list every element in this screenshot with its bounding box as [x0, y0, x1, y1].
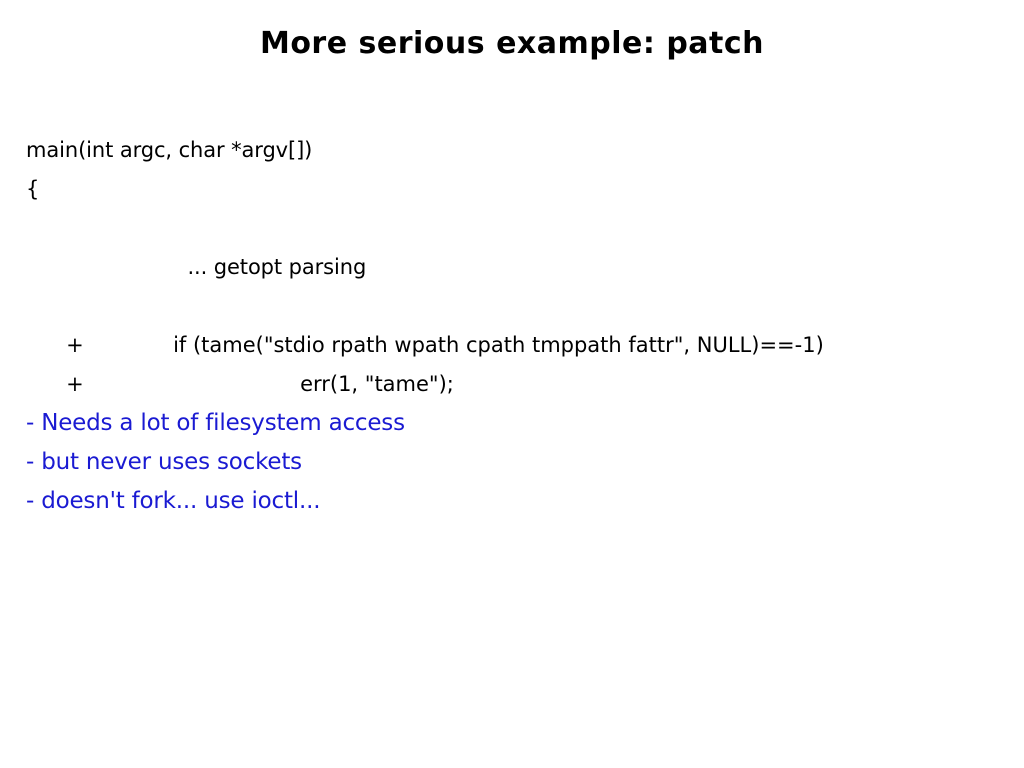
- code-line-main-signature: main(int argc, char *argv[]): [26, 131, 1006, 170]
- note-line-filesystem-access: - Needs a lot of filesystem access: [26, 404, 926, 443]
- code-line-open-brace: {: [26, 170, 1006, 209]
- code-line-err-call-text: err(1, "tame");: [300, 372, 454, 396]
- page-title: More serious example: patch: [0, 26, 1024, 61]
- note-line-no-fork-ioctl: - doesn't fork... use ioctl...: [26, 482, 926, 521]
- code-line-tame-if: +if (tame("stdio rpath wpath cpath tmppa…: [26, 287, 1006, 326]
- code-line-getopt: ... getopt parsing: [26, 209, 1006, 248]
- slide: More serious example: patch main(int arg…: [0, 0, 1024, 768]
- code-block: main(int argc, char *argv[]) { ... getop…: [26, 131, 1006, 365]
- diff-added-marker: +: [66, 365, 173, 404]
- note-line-no-sockets: - but never uses sockets: [26, 443, 926, 482]
- diff-added-marker: +: [66, 326, 173, 365]
- code-line-getopt-text: ... getopt parsing: [187, 255, 366, 279]
- code-line-tame-if-text: if (tame("stdio rpath wpath cpath tmppat…: [173, 333, 824, 357]
- notes-block: - Needs a lot of filesystem access - but…: [26, 404, 926, 521]
